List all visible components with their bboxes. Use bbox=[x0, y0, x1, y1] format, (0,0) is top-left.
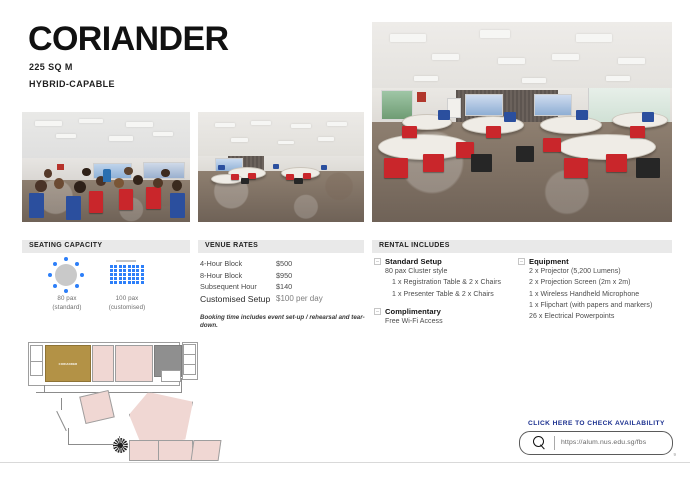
check-availability-cta[interactable]: CLICK HERE TO CHECK AVAILABILITY bbox=[528, 420, 665, 427]
floor-plan-room bbox=[92, 345, 114, 382]
rental-item: 1 x Registration Table & 2 x Chairs bbox=[374, 277, 520, 288]
seat-dot bbox=[123, 273, 126, 276]
floor-plan-room bbox=[129, 440, 159, 461]
seat-dot bbox=[132, 273, 135, 276]
seat-dot bbox=[136, 277, 139, 280]
rate-label: Customised Setup bbox=[200, 294, 270, 304]
rate-row: 4-Hour Block $500 bbox=[200, 259, 365, 271]
rental-item: 1 x Wireless Handheld Microphone bbox=[518, 289, 674, 300]
footer-divider bbox=[0, 462, 690, 463]
rental-item: 2 x Projector (5,200 Lumens) bbox=[518, 266, 674, 277]
seat-dot bbox=[128, 273, 131, 276]
venue-info-page: CORIANDER 225 SQ M HYBRID-CAPABLE bbox=[0, 0, 690, 485]
seat-dot bbox=[114, 277, 117, 280]
capacity-style-customised: (customised) bbox=[94, 303, 160, 312]
rate-row: 8-Hour Block $950 bbox=[200, 271, 365, 283]
seat-dot bbox=[114, 273, 117, 276]
capacity-count-customised: 100 pax bbox=[94, 294, 160, 303]
round-table-icon bbox=[34, 256, 100, 294]
seat-dot bbox=[110, 269, 113, 272]
url-divider bbox=[554, 436, 555, 450]
seat-dot bbox=[123, 281, 126, 284]
seat-dot bbox=[128, 269, 131, 272]
rate-value: $500 bbox=[276, 259, 292, 268]
seat-dot bbox=[141, 265, 144, 268]
rental-group-title: Complimentary bbox=[374, 307, 520, 316]
seat-dot bbox=[132, 277, 135, 280]
theatre-setup-photo bbox=[22, 112, 190, 222]
floor-plan-room bbox=[115, 345, 153, 382]
floor-plan-room-coriander: CORIANDER bbox=[45, 345, 91, 382]
rental-item: Free Wi-Fi Access bbox=[374, 316, 520, 327]
rental-column-right: Equipment2 x Projector (5,200 Lumens)2 x… bbox=[518, 257, 674, 330]
seat-dot bbox=[119, 265, 122, 268]
rental-item: 1 x Flipchart (with papers and markers) bbox=[518, 300, 674, 311]
rental-includes-heading: RENTAL INCLUDES bbox=[379, 242, 450, 249]
availability-url-bar[interactable]: https://alum.nus.edu.sg/fbs bbox=[519, 431, 673, 455]
seat-dot bbox=[119, 269, 122, 272]
rental-group: ComplimentaryFree Wi-Fi Access bbox=[374, 307, 520, 327]
rate-value: $950 bbox=[276, 271, 292, 280]
rental-item: 80 pax Cluster style bbox=[374, 266, 520, 277]
rate-row-customised-setup: Customised Setup $100 per day bbox=[200, 294, 365, 307]
floor-plan-room bbox=[79, 390, 115, 424]
theatre-grid-icon bbox=[94, 256, 160, 294]
page-title: CORIANDER bbox=[28, 22, 229, 56]
rate-value: $140 bbox=[276, 282, 292, 291]
seat-dot bbox=[123, 265, 126, 268]
venue-rates-section: 4-Hour Block $500 8-Hour Block $950 Subs… bbox=[200, 259, 365, 331]
seat-dot bbox=[128, 277, 131, 280]
rental-group-title-text: Equipment bbox=[529, 257, 569, 266]
seat-dot bbox=[110, 281, 113, 284]
rental-group-title: Equipment bbox=[518, 257, 674, 266]
rental-item: 26 x Electrical Powerpoints bbox=[518, 311, 674, 322]
seating-capacity-heading: SEATING CAPACITY bbox=[29, 242, 102, 249]
checkbox-icon bbox=[374, 308, 381, 315]
venue-floor-plan: CORIANDER bbox=[16, 340, 226, 468]
venue-area: 225 SQ M bbox=[29, 62, 73, 72]
checkbox-icon bbox=[518, 258, 525, 265]
rate-value: $100 per day bbox=[276, 294, 323, 303]
floor-plan-room bbox=[191, 440, 222, 461]
rental-group-title-text: Complimentary bbox=[385, 307, 441, 316]
seat-dot bbox=[128, 265, 131, 268]
rental-item: 2 x Projection Screen (2m x 2m) bbox=[518, 277, 674, 288]
seat-dot bbox=[136, 269, 139, 272]
capacity-style-standard: (standard) bbox=[34, 303, 100, 312]
seat-dot bbox=[119, 281, 122, 284]
spiral-staircase-icon bbox=[113, 438, 128, 453]
seat-dot bbox=[141, 281, 144, 284]
capacity-option-standard: 80 pax (standard) bbox=[34, 256, 100, 313]
floor-plan-auditorium bbox=[129, 392, 193, 446]
seat-dot bbox=[110, 277, 113, 280]
capacity-count-standard: 80 pax bbox=[34, 294, 100, 303]
rate-row: Subsequent Hour $140 bbox=[200, 282, 365, 294]
rental-column-left: Standard Setup80 pax Cluster style1 x Re… bbox=[374, 257, 520, 334]
rental-group-title: Standard Setup bbox=[374, 257, 520, 266]
seat-dot bbox=[119, 277, 122, 280]
seat-dot bbox=[141, 269, 144, 272]
seat-dot bbox=[128, 281, 131, 284]
cluster-setup-main-photo bbox=[372, 22, 672, 222]
checkbox-icon bbox=[374, 258, 381, 265]
venue-capability: HYBRID-CAPABLE bbox=[29, 79, 115, 89]
rental-item: 1 x Presenter Table & 2 x Chairs bbox=[374, 289, 520, 300]
venue-rates-heading: VENUE RATES bbox=[205, 242, 258, 249]
seat-dot bbox=[136, 265, 139, 268]
seat-dot bbox=[114, 265, 117, 268]
seat-dot bbox=[110, 273, 113, 276]
seat-dot bbox=[114, 269, 117, 272]
seat-dot bbox=[136, 273, 139, 276]
cluster-setup-wide-photo bbox=[198, 112, 364, 222]
rate-label: Subsequent Hour bbox=[200, 282, 257, 291]
venue-rates-note: Booking time includes event set-up / reh… bbox=[200, 314, 365, 332]
seating-capacity-header: SEATING CAPACITY bbox=[22, 240, 190, 253]
availability-url[interactable]: https://alum.nus.edu.sg/fbs bbox=[561, 439, 646, 446]
rental-group: Standard Setup80 pax Cluster style1 x Re… bbox=[374, 257, 520, 300]
seat-dot bbox=[141, 277, 144, 280]
seat-dot bbox=[136, 281, 139, 284]
seat-dot bbox=[110, 265, 113, 268]
floor-plan-room bbox=[158, 440, 193, 461]
seat-dot bbox=[119, 273, 122, 276]
seat-dot bbox=[132, 281, 135, 284]
floor-plan-room-label: CORIANDER bbox=[46, 362, 90, 366]
page-number: 9 bbox=[673, 452, 676, 457]
seat-dot bbox=[132, 269, 135, 272]
rental-group-title-text: Standard Setup bbox=[385, 257, 442, 266]
seat-dot bbox=[141, 273, 144, 276]
rental-group: Equipment2 x Projector (5,200 Lumens)2 x… bbox=[518, 257, 674, 323]
rate-label: 4-Hour Block bbox=[200, 259, 242, 268]
magnifier-icon bbox=[533, 436, 544, 447]
seat-dot bbox=[132, 265, 135, 268]
rental-includes-header: RENTAL INCLUDES bbox=[372, 240, 672, 253]
capacity-option-customised: 100 pax (customised) bbox=[94, 256, 160, 313]
venue-rates-header: VENUE RATES bbox=[198, 240, 364, 253]
seat-dot bbox=[114, 281, 117, 284]
seat-dot bbox=[123, 269, 126, 272]
rate-label: 8-Hour Block bbox=[200, 271, 242, 280]
seat-dot bbox=[123, 277, 126, 280]
